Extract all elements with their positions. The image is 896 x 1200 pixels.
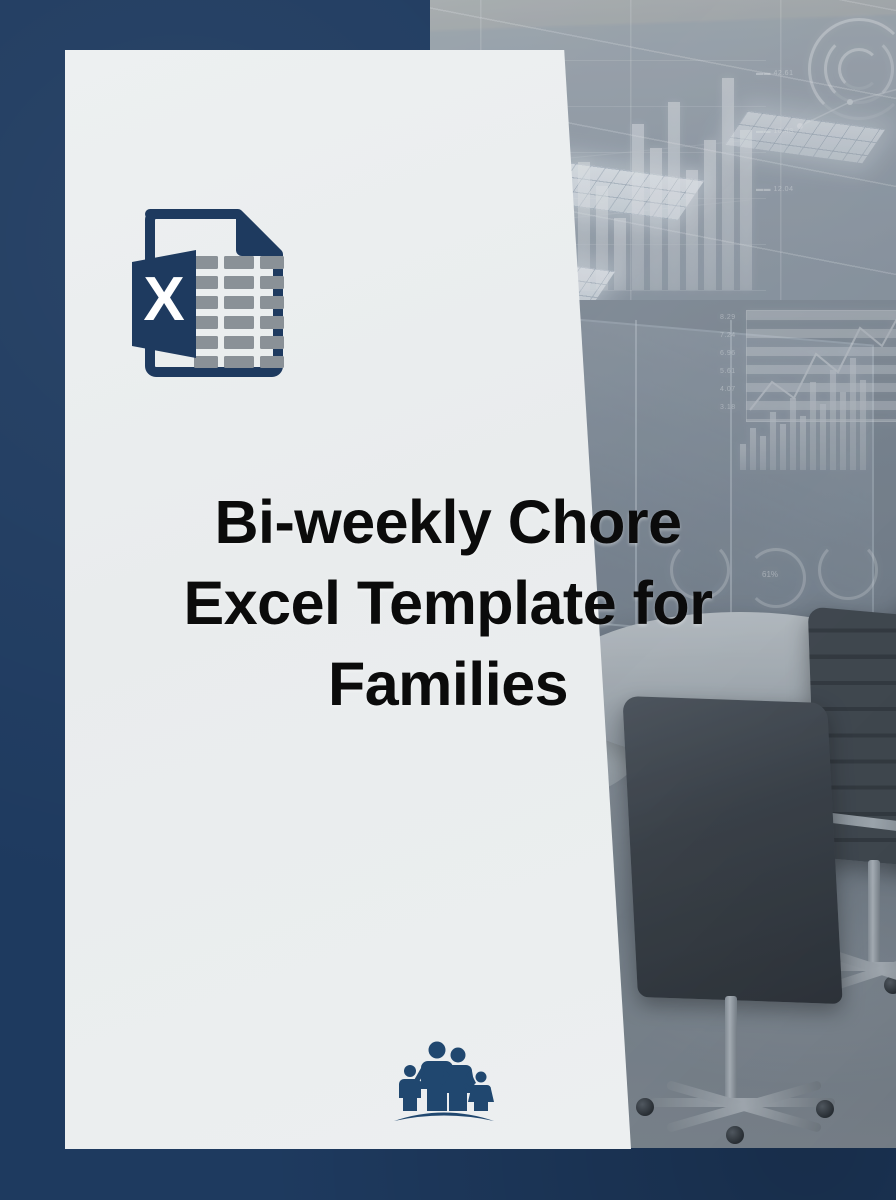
cover-page: ▬▬ 42.61 ▬▬ 18.48 ▬▬ 12.04 8.29 7.24 6.9… bbox=[0, 0, 896, 1200]
svg-text:X: X bbox=[143, 265, 184, 334]
page-title: Bi-weekly Chore Excel Template for Famil… bbox=[0, 482, 896, 725]
excel-document-icon: X bbox=[118, 196, 306, 384]
family-silhouette-icon bbox=[392, 1038, 496, 1124]
